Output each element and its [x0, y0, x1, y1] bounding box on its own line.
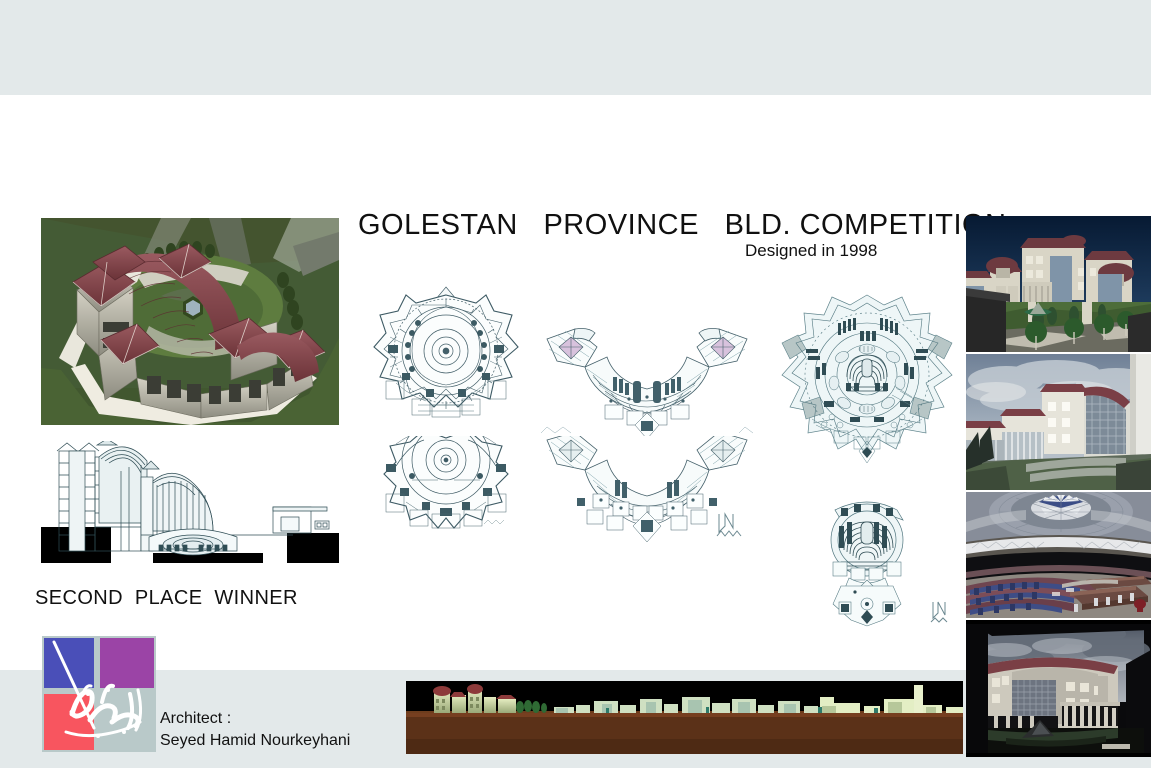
floor-plan-level-2	[366, 436, 526, 544]
floor-plan-crescent-1	[541, 321, 753, 443]
architect-label: Architect :	[160, 710, 231, 727]
urban-context-elevation	[406, 681, 963, 754]
auditorium-plan	[811, 486, 959, 629]
architect-credit: Architect : Seyed Hamid Nourkeyhani	[160, 708, 350, 751]
floor-plan-crescent-2	[541, 436, 753, 548]
page-title: GOLESTAN PROVINCE BLD. COMPETITION	[358, 209, 1007, 242]
persian-calligraphy-icon	[42, 636, 156, 752]
exterior-render-dusk	[966, 620, 1151, 757]
floor-plan-level-1	[366, 281, 526, 436]
exterior-render-daylight	[966, 216, 1151, 352]
building-section-drawing	[41, 441, 339, 563]
aerial-perspective-render	[41, 218, 339, 425]
page-subtitle: Designed in 1998	[745, 241, 877, 261]
interior-render-assembly-hall	[966, 492, 1151, 618]
exterior-render-cloudy	[966, 354, 1151, 490]
roof-site-plan	[776, 291, 958, 468]
award-label: SECOND PLACE WINNER	[35, 587, 298, 610]
presentation-board: GOLESTAN PROVINCE BLD. COMPETITION Desig…	[0, 95, 1151, 670]
architect-studio-logo	[42, 636, 156, 752]
architect-name: Seyed Hamid Nourkeyhani	[160, 732, 350, 749]
